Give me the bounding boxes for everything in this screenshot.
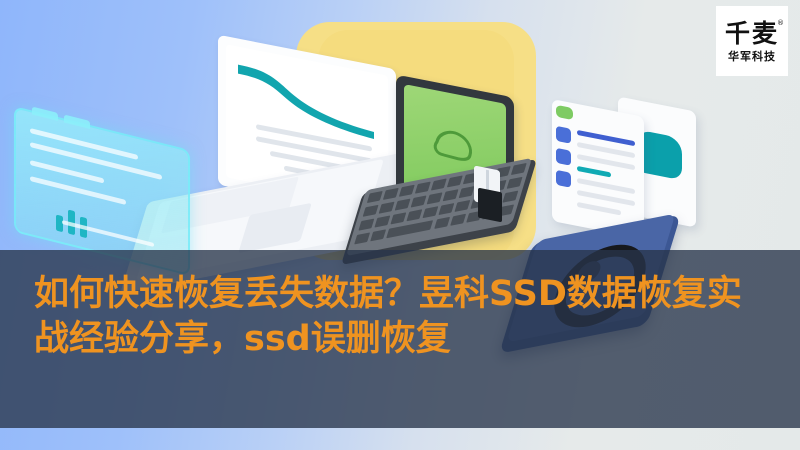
- keyboard-key: [454, 200, 470, 212]
- keyboard-key: [447, 175, 463, 187]
- keyboard-key: [507, 177, 523, 189]
- holo-baseline: [62, 220, 154, 247]
- keyboard-key: [438, 203, 454, 215]
- keyboard-key: [450, 214, 466, 226]
- keyboard-key: [379, 202, 395, 214]
- keyboard-key: [406, 209, 422, 221]
- holo-tab: [64, 115, 90, 129]
- keyboard-key: [395, 199, 411, 211]
- registered-mark: ®: [777, 20, 786, 27]
- brand-name: 千麦 ®: [725, 21, 779, 46]
- keyboard-key: [374, 215, 390, 227]
- keyboard-key: [363, 205, 379, 217]
- file-card-front: [552, 99, 644, 239]
- keyboard-key: [459, 186, 475, 198]
- keyboard-key: [358, 219, 374, 231]
- keyboard-key: [431, 178, 447, 190]
- keyboard-key: [367, 191, 383, 203]
- green-status-chip: [556, 105, 573, 120]
- blue-list-chip: [556, 126, 571, 144]
- page-title: 如何快速恢复丢失数据？昱科SSD数据恢复实战经验分享，ssd误删恢复: [0, 250, 800, 428]
- blue-list-chip: [556, 170, 571, 188]
- article-cover-banner: 千麦 ® 华军科技 如何快速恢复丢失数据？昱科SSD数据恢复实战经验分享，ssd…: [0, 0, 800, 450]
- brand-name-text: 千麦: [725, 19, 779, 48]
- usb-flash-drive-cap: [478, 188, 502, 223]
- card-text-line: [577, 166, 611, 178]
- keyboard-key: [427, 192, 443, 204]
- keyboard-key: [399, 185, 415, 197]
- company-name: 华军科技: [728, 51, 776, 62]
- keyboard-key: [511, 163, 527, 175]
- keyboard-key: [443, 189, 459, 201]
- keyboard-key: [390, 212, 406, 224]
- keyboard-key: [411, 195, 427, 207]
- blue-list-chip: [556, 148, 571, 166]
- holo-text-line: [30, 176, 126, 205]
- card-text-line: [577, 202, 621, 216]
- holo-tab: [32, 107, 58, 121]
- keyboard-key: [415, 182, 431, 194]
- keyboard-key: [383, 188, 399, 200]
- keyboard-key: [502, 191, 518, 203]
- brand-logo: 千麦 ® 华军科技: [716, 6, 788, 76]
- keyboard-key: [370, 229, 386, 241]
- keyboard-key: [434, 217, 450, 229]
- keyboard-key: [354, 232, 370, 244]
- keyboard-key: [422, 206, 438, 218]
